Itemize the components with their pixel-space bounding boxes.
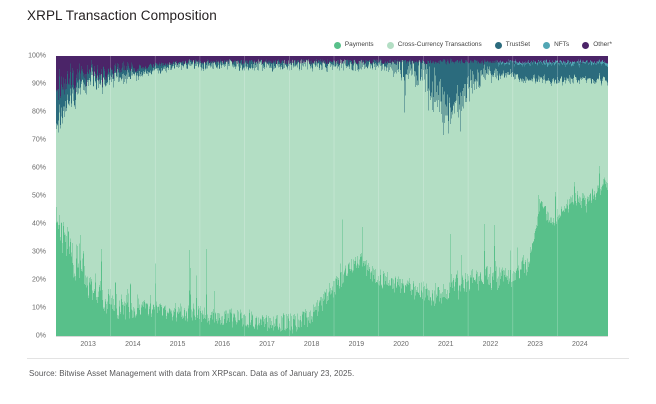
y-axis-tick-label: 20% <box>32 277 46 284</box>
legend-item-label: TrustSet <box>506 42 530 48</box>
x-axis-tick-label: 2015 <box>170 341 186 348</box>
legend-dot-icon <box>582 42 589 49</box>
x-axis-tick-label: 2021 <box>438 341 454 348</box>
x-axis-tick-label: 2024 <box>572 341 588 348</box>
x-axis-tick-label: 2020 <box>393 341 409 348</box>
legend-item-label: Payments <box>345 42 374 48</box>
legend-item-cross-currency-transactions[interactable]: Cross-Currency Transactions <box>387 42 482 49</box>
legend-item-trustset[interactable]: TrustSet <box>495 42 530 49</box>
x-axis-tick-label: 2022 <box>483 341 499 348</box>
y-axis-tick-label: 70% <box>32 137 46 144</box>
legend-item-other[interactable]: Other* <box>582 42 612 49</box>
x-axis-tick-label: 2019 <box>349 341 365 348</box>
legend-dot-icon <box>387 42 394 49</box>
x-axis-tick-label: 2013 <box>80 341 96 348</box>
x-axis: 2013201420152016201720182019202020212022… <box>56 338 608 354</box>
x-axis-tick-label: 2018 <box>304 341 320 348</box>
y-axis-tick-label: 80% <box>32 109 46 116</box>
legend-item-label: Other* <box>593 42 612 48</box>
x-axis-tick-label: 2017 <box>259 341 275 348</box>
y-axis-tick-label: 40% <box>32 221 46 228</box>
area-series-group <box>56 56 608 336</box>
y-axis-tick-label: 30% <box>32 249 46 256</box>
x-axis-tick-label: 2014 <box>125 341 141 348</box>
legend-dot-icon <box>334 42 341 49</box>
y-axis-tick-label: 90% <box>32 81 46 88</box>
y-axis-tick-label: 100% <box>28 53 46 60</box>
axis-baseline <box>56 336 608 337</box>
legend-item-label: NFTs <box>554 42 569 48</box>
y-axis-tick-label: 10% <box>32 305 46 312</box>
legend-dot-icon <box>543 42 550 49</box>
x-axis-tick-label: 2023 <box>527 341 543 348</box>
footer-divider <box>27 358 629 359</box>
legend-item-label: Cross-Currency Transactions <box>398 42 482 48</box>
source-note: Source: Bitwise Asset Management with da… <box>29 369 354 378</box>
stacked-area-chart <box>56 56 608 336</box>
chart-figure: XRPL Transaction Composition PaymentsCro… <box>0 0 656 404</box>
page-title: XRPL Transaction Composition <box>27 8 217 23</box>
y-axis-tick-label: 60% <box>32 165 46 172</box>
x-axis-tick-label: 2016 <box>214 341 230 348</box>
y-axis: 0%10%20%30%40%50%60%70%80%90%100% <box>0 56 52 336</box>
legend-dot-icon <box>495 42 502 49</box>
y-axis-tick-label: 0% <box>36 333 46 340</box>
y-axis-tick-label: 50% <box>32 193 46 200</box>
plot-area <box>56 56 608 336</box>
legend-item-payments[interactable]: Payments <box>334 42 374 49</box>
legend-item-nfts[interactable]: NFTs <box>543 42 569 49</box>
chart-legend: PaymentsCross-Currency TransactionsTrust… <box>300 39 612 51</box>
